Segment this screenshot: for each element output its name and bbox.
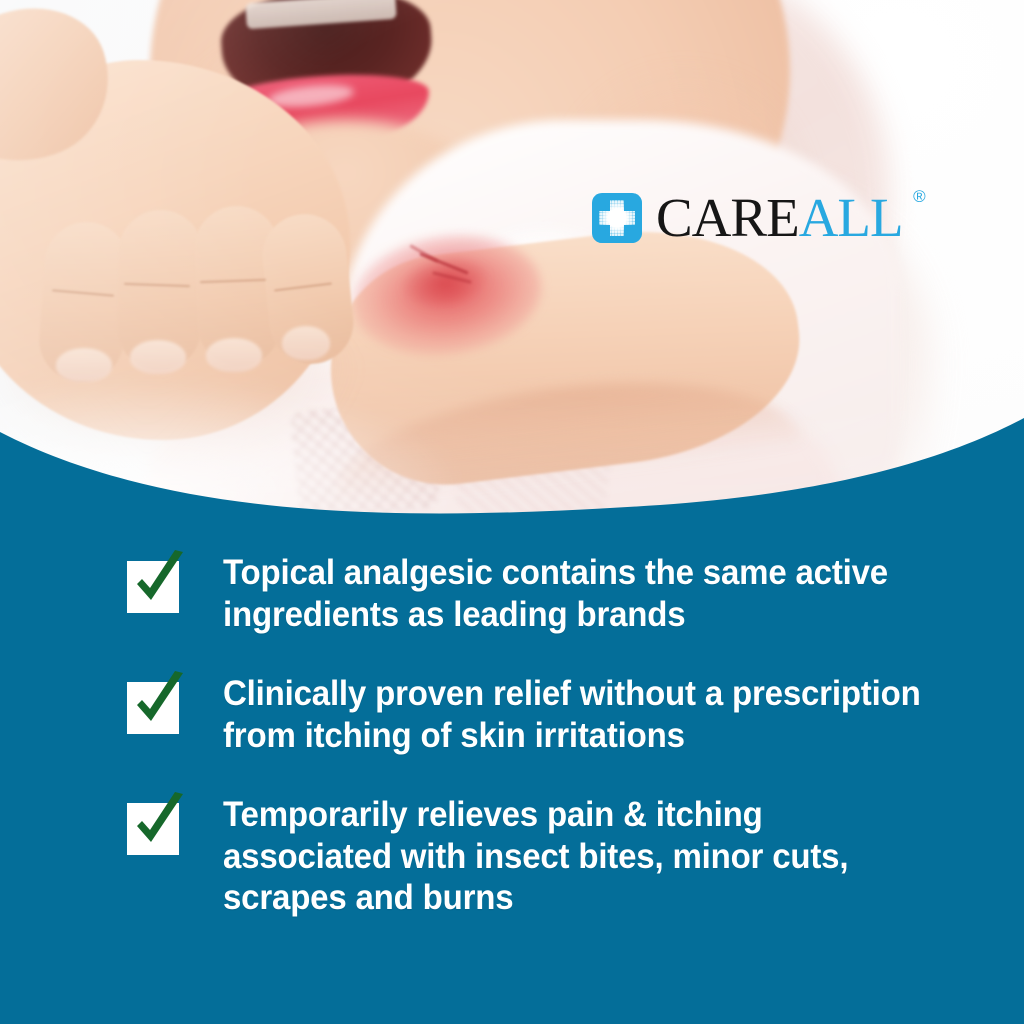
benefit-item: Temporarily relieves pain & itching asso… bbox=[0, 794, 1024, 919]
medical-cross-icon bbox=[592, 193, 642, 243]
checkbox-checked bbox=[127, 561, 179, 613]
logo-wordmark: CAREALL® bbox=[656, 190, 903, 245]
checkbox-checked bbox=[127, 803, 179, 855]
benefits-list: Topical analgesic contains the same acti… bbox=[0, 552, 1024, 919]
careall-logo: CAREALL® bbox=[592, 190, 903, 245]
halftone-overlay bbox=[592, 193, 642, 243]
hero-photo bbox=[0, 0, 1024, 530]
benefit-text: Temporarily relieves pain & itching asso… bbox=[223, 794, 930, 919]
logo-word-care: CARE bbox=[656, 187, 799, 248]
benefit-text: Clinically proven relief without a presc… bbox=[223, 673, 930, 756]
benefit-item: Topical analgesic contains the same acti… bbox=[0, 552, 1024, 635]
checkmark-icon bbox=[125, 669, 197, 741]
registered-trademark-icon: ® bbox=[913, 188, 925, 205]
photo-vignette bbox=[0, 0, 1024, 530]
product-marketing-card: CAREALL® Topical analgesic contains the … bbox=[0, 0, 1024, 1024]
logo-word-all: ALL bbox=[799, 187, 903, 248]
benefit-text: Topical analgesic contains the same acti… bbox=[223, 552, 930, 635]
checkbox-checked bbox=[127, 682, 179, 734]
benefit-item: Clinically proven relief without a presc… bbox=[0, 673, 1024, 756]
checkmark-icon bbox=[125, 548, 197, 620]
checkmark-icon bbox=[125, 790, 197, 862]
